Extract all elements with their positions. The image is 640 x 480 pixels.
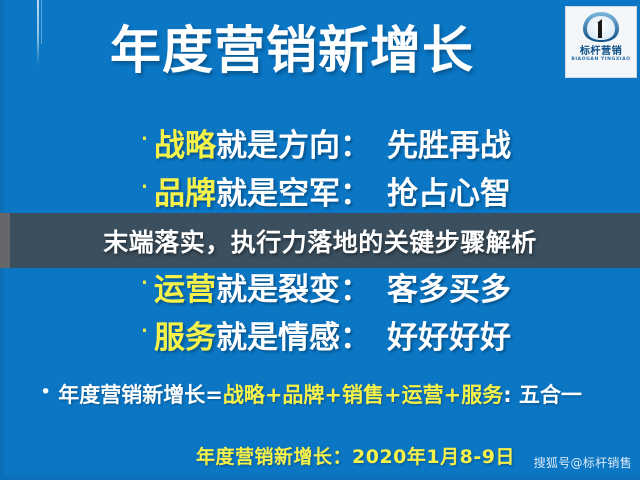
bullet-value: 先胜再战 — [387, 120, 511, 165]
bullet-keyword: 战略 — [154, 120, 216, 165]
list-item: · 运营 就是裂变： 客多买多 — [140, 262, 560, 310]
event-dateline: 年度营销新增长：2020年1月8-9日 — [196, 442, 515, 469]
bullet-dot-icon: · — [140, 283, 154, 289]
bullet-dot-icon: · — [140, 139, 154, 145]
brand-logo-en: BIAOGAN YINGXIAO — [571, 58, 630, 63]
bullet-dot-icon: · — [140, 331, 154, 337]
bottom-edge-strip — [0, 475, 640, 480]
caption-text: 末端落实，执行力落地的关键步骤解析 — [0, 213, 640, 268]
summary-terms: 战略+品牌+销售+运营+服务 — [223, 379, 503, 409]
list-item: · 战略 就是方向： 先胜再战 — [140, 118, 560, 166]
decorative-vertical-line-secondary-icon — [41, 0, 42, 44]
decorative-vertical-line-icon — [37, 0, 39, 66]
bullet-value: 好好好好 — [387, 312, 511, 357]
bullet-dot-icon: · — [140, 187, 154, 193]
summary-equation: • 年度营销新增长= 战略+品牌+销售+运营+服务 : 五合一 — [40, 380, 610, 408]
bullet-connector: 就是空军： — [216, 168, 371, 213]
bullet-keyword: 运营 — [154, 264, 216, 309]
bullet-keyword: 服务 — [154, 312, 216, 357]
bullet-value: 客多买多 — [387, 264, 511, 309]
bullet-connector: 就是方向： — [216, 120, 371, 165]
slide-title: 年度营销新增长 — [110, 16, 490, 86]
bullet-connector: 就是裂变： — [216, 264, 371, 309]
summary-tail: : 五合一 — [503, 379, 582, 409]
list-item: · 品牌 就是空军： 抢占心智 — [140, 166, 560, 214]
summary-bullet-icon: • — [40, 392, 58, 396]
bullet-keyword: 品牌 — [154, 168, 216, 213]
slide-image: 年度营销新增长 标杆营销 B — [0, 0, 640, 480]
brand-logo: 标杆营销 BIAOGAN YINGXIAO — [565, 6, 637, 78]
brand-logo-cn: 标杆营销 — [580, 45, 622, 56]
bullet-value: 抢占心智 — [387, 168, 511, 213]
summary-lead: 年度营销新增长= — [58, 379, 223, 409]
list-item: · 服务 就是情感： 好好好好 — [140, 310, 560, 358]
sohu-watermark: 搜狐号@标杆销售 — [534, 454, 632, 471]
bullet-connector: 就是情感： — [216, 312, 371, 357]
swoosh-circle-one-icon — [581, 10, 621, 44]
